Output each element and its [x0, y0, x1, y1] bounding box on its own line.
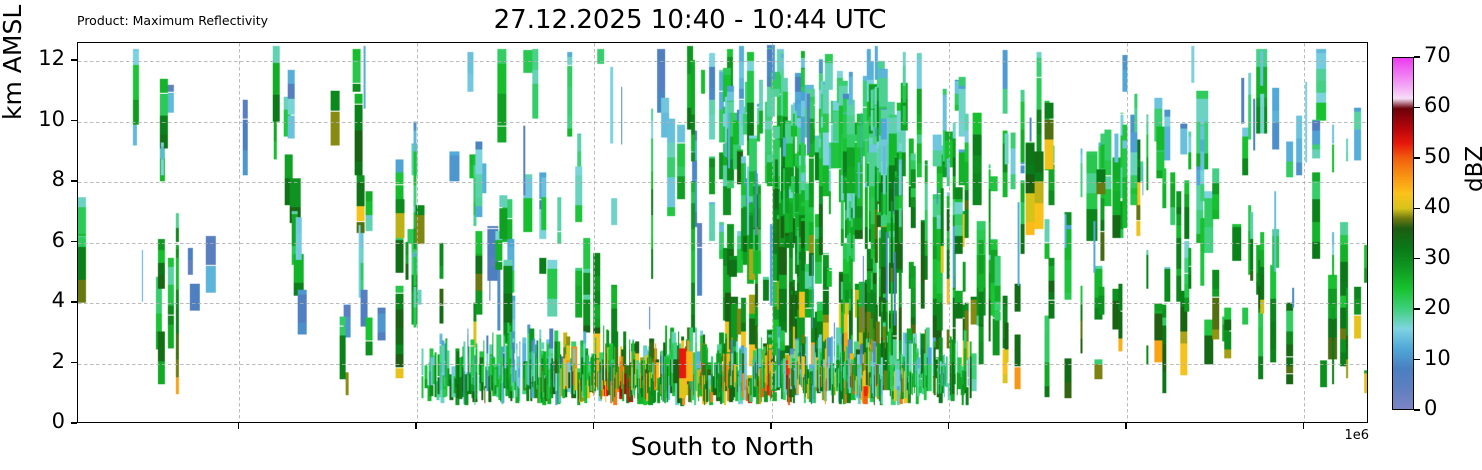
colorbar-tick — [1414, 157, 1420, 158]
colorbar-tick — [1414, 359, 1420, 360]
y-axis-tick — [71, 422, 77, 424]
colorbar-tick-label: 0 — [1424, 396, 1437, 420]
gridline-horizontal — [78, 122, 1367, 123]
plot-area — [77, 42, 1368, 423]
x-axis-tick — [770, 423, 772, 429]
gridline-horizontal — [78, 61, 1367, 62]
y-axis-tick — [71, 362, 77, 364]
gridline-vertical — [772, 43, 773, 422]
x-axis-tick — [415, 423, 417, 429]
colorbar-tick-label: 60 — [1424, 93, 1451, 117]
gridline-vertical — [949, 43, 950, 422]
colorbar-tick — [1414, 308, 1420, 309]
gridline-vertical — [1304, 43, 1305, 422]
x-axis-offset-label: 1e6 — [1344, 428, 1369, 443]
colorbar — [1392, 57, 1414, 410]
y-axis-tick — [71, 180, 77, 182]
colorbar-tick-label: 70 — [1424, 43, 1451, 67]
y-axis-tick — [71, 241, 77, 243]
gridline-vertical — [1127, 43, 1128, 422]
y-axis-tick — [71, 120, 77, 122]
y-axis-tick-label: 4 — [0, 288, 65, 312]
colorbar-tick — [1414, 258, 1420, 259]
gridline-horizontal — [78, 364, 1367, 365]
x-axis-tick — [948, 423, 950, 429]
colorbar-tick-label: 50 — [1424, 144, 1451, 168]
y-axis-tick-label: 6 — [0, 228, 65, 252]
reflectivity-heatmap — [78, 43, 1367, 422]
x-axis-label: South to North — [77, 432, 1368, 461]
colorbar-tick — [1414, 107, 1420, 108]
y-axis-tick-label: 0 — [0, 409, 65, 433]
x-axis-tick — [593, 423, 595, 429]
colorbar-tick — [1414, 56, 1420, 57]
colorbar-tick — [1414, 409, 1420, 410]
y-axis-label: km AMSL — [0, 5, 27, 120]
y-axis-tick — [71, 59, 77, 61]
colorbar-gradient — [1393, 58, 1413, 409]
radar-cross-section-figure: Product: Maximum Reflectivity 27.12.2025… — [0, 0, 1482, 470]
y-axis-tick-label: 8 — [0, 167, 65, 191]
x-axis-tick — [238, 423, 240, 429]
colorbar-tick — [1414, 208, 1420, 209]
gridline-vertical — [239, 43, 240, 422]
colorbar-tick-label: 20 — [1424, 295, 1451, 319]
x-axis-tick — [1125, 423, 1127, 429]
chart-title: 27.12.2025 10:40 - 10:44 UTC — [0, 5, 1380, 35]
y-axis-tick-label: 2 — [0, 349, 65, 373]
y-axis-tick — [71, 301, 77, 303]
colorbar-tick-label: 10 — [1424, 346, 1451, 370]
colorbar-label: dBZ — [1462, 146, 1482, 192]
gridline-vertical — [417, 43, 418, 422]
gridline-vertical — [594, 43, 595, 422]
x-axis-tick — [1303, 423, 1305, 429]
gridline-horizontal — [78, 303, 1367, 304]
gridline-horizontal — [78, 182, 1367, 183]
gridline-horizontal — [78, 243, 1367, 244]
colorbar-tick-label: 30 — [1424, 245, 1451, 269]
colorbar-tick-label: 40 — [1424, 194, 1451, 218]
